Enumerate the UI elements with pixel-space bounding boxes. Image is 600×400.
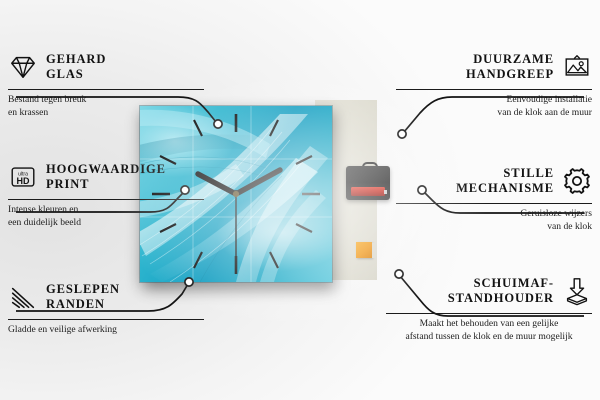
feature-header: SCHUIMAF- STANDHOUDER <box>386 272 592 310</box>
diamond-icon <box>8 52 38 82</box>
feature-header: STILLE MECHANISME <box>396 162 592 200</box>
feature-header: DUURZAME HANDGREEP <box>396 48 592 86</box>
feature-title: HOOGWAARDIGE PRINT <box>46 162 166 192</box>
divider <box>8 319 204 320</box>
feature-description: Bestand tegen breuk en krassen <box>8 94 204 120</box>
feature-stille-mechanisme: STILLE MECHANISME Geruisloze wijzers van… <box>396 162 592 234</box>
feature-header: ultra HD HOOGWAARDIGE PRINT <box>8 158 204 196</box>
feature-title-line2: PRINT <box>46 177 166 192</box>
feature-description: Gladde en veilige afwerking <box>8 324 204 337</box>
infographic-canvas: GEHARD GLAS Bestand tegen breuk en krass… <box>0 0 600 400</box>
feature-description: Maakt het behouden van een gelijke afsta… <box>386 318 592 344</box>
feature-title-line1: DUURZAME <box>466 52 554 67</box>
feature-header: GEHARD GLAS <box>8 48 204 86</box>
feature-title-line1: GEHARD <box>46 52 106 67</box>
gear-icon <box>562 166 592 196</box>
divider <box>386 313 592 314</box>
ultra-hd-icon: ultra HD <box>8 162 38 192</box>
picture-frame-icon <box>562 52 592 82</box>
divider <box>8 89 204 90</box>
feature-title-line1: HOOGWAARDIGE <box>46 162 166 177</box>
feature-title-line2: HANDGREEP <box>466 67 554 82</box>
feature-gehard-glas: GEHARD GLAS Bestand tegen breuk en krass… <box>8 48 204 120</box>
feature-hoogwaardige-print: ultra HD HOOGWAARDIGE PRINT Intense kleu… <box>8 158 204 230</box>
feature-title: GEHARD GLAS <box>46 52 106 82</box>
beveled-edge-icon <box>8 282 38 312</box>
callout-marker-gehard-glas <box>214 120 222 128</box>
feature-title-line1: STILLE <box>456 166 554 181</box>
feature-geslepen-randen: GESLEPEN RANDEN Gladde en veilige afwerk… <box>8 278 204 337</box>
divider <box>396 89 592 90</box>
feature-title-line2: GLAS <box>46 67 106 82</box>
feature-description: Eenvoudige installatie van de klok aan d… <box>396 94 592 120</box>
feature-duurzame-handgreep: DUURZAME HANDGREEP Eenvoudige installati… <box>396 48 592 120</box>
feature-header: GESLEPEN RANDEN <box>8 278 204 316</box>
feature-description: Geruisloze wijzers van de klok <box>396 208 592 234</box>
feature-title-line1: SCHUIMAF- <box>448 276 554 291</box>
feature-description: Intense kleuren en een duidelijk beeld <box>8 204 204 230</box>
feature-title-line1: GESLEPEN <box>46 282 120 297</box>
divider <box>8 199 204 200</box>
divider <box>396 203 592 204</box>
callout-marker-handgreep <box>398 130 406 138</box>
feature-title: DUURZAME HANDGREEP <box>466 52 554 82</box>
feature-schuimafstandhouder: SCHUIMAF- STANDHOUDER Maakt het behouden… <box>386 272 592 344</box>
press-down-icon <box>562 276 592 306</box>
feature-title: STILLE MECHANISME <box>456 166 554 196</box>
svg-text:HD: HD <box>17 176 30 186</box>
feature-title: GESLEPEN RANDEN <box>46 282 120 312</box>
feature-title: SCHUIMAF- STANDHOUDER <box>448 276 554 306</box>
feature-title-line2: MECHANISME <box>456 181 554 196</box>
feature-title-line2: RANDEN <box>46 297 120 312</box>
feature-title-line2: STANDHOUDER <box>448 291 554 306</box>
